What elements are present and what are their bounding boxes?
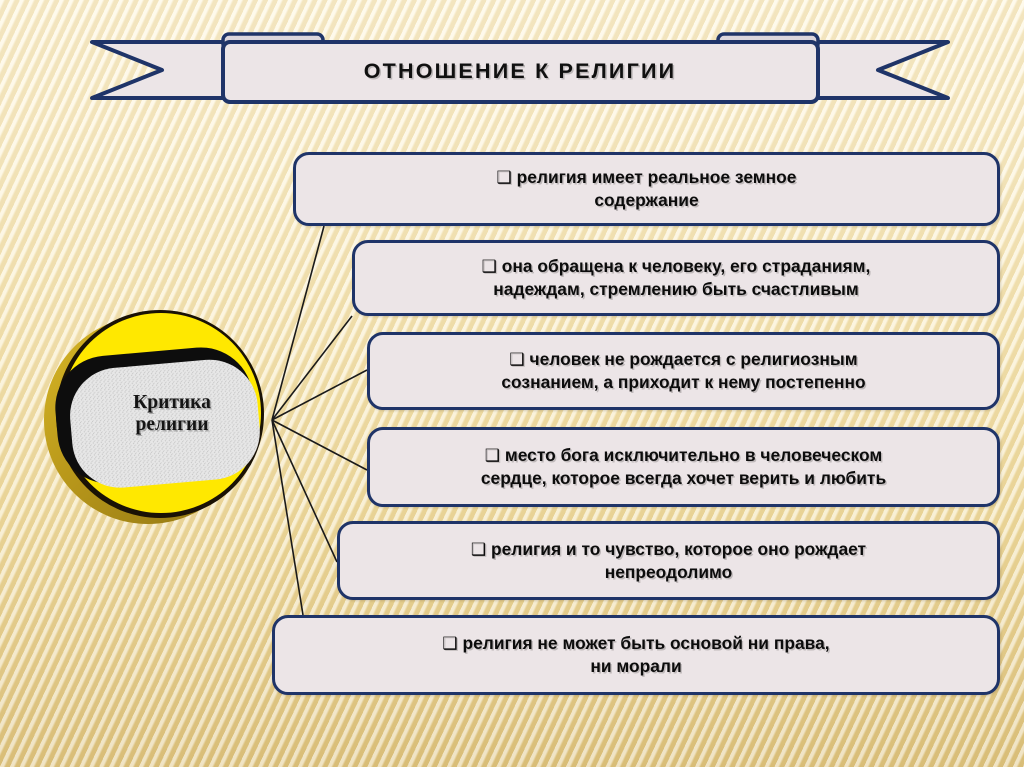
statement-line-4a: место бога исключительно в человеческом bbox=[505, 445, 882, 465]
statement-text-4: ❑ место бога исключительно в человеческо… bbox=[481, 444, 886, 489]
statement-line-2b: надеждам, стремлению быть счастливым bbox=[493, 279, 858, 299]
bullet-icon-1: ❑ bbox=[497, 168, 512, 187]
title-banner: ОТНОШЕНИЕ К РЕЛИГИИ bbox=[90, 30, 950, 110]
statement-box-2[interactable]: ❑ она обращена к человеку, его страдания… bbox=[352, 240, 1000, 316]
statement-line-2a: она обращена к человеку, его страданиям, bbox=[502, 256, 871, 276]
bullet-icon-6: ❑ bbox=[442, 634, 457, 653]
bullet-icon-5: ❑ bbox=[471, 540, 486, 559]
bullet-icon-2: ❑ bbox=[482, 257, 497, 276]
statement-text-3: ❑ человек не рождается с религиозным соз… bbox=[501, 348, 865, 393]
statement-box-3[interactable]: ❑ человек не рождается с религиозным соз… bbox=[367, 332, 1000, 410]
statement-line-3a: человек не рождается с религиозным bbox=[530, 349, 858, 369]
emblem-label-line-2: религии bbox=[104, 414, 240, 436]
emblem-label: Критика религии bbox=[104, 392, 240, 436]
banner-left-tail bbox=[92, 42, 240, 98]
bullet-icon-3: ❑ bbox=[509, 350, 524, 369]
statement-line-1b: содержание bbox=[594, 190, 698, 210]
statement-line-6b: ни морали bbox=[590, 656, 681, 676]
statement-line-5a: религия и то чувство, которое оно рождае… bbox=[491, 539, 866, 559]
central-emblem: Критика религии bbox=[42, 296, 274, 536]
connector-line-1 bbox=[272, 226, 324, 420]
emblem-label-line-1: Критика bbox=[104, 392, 240, 414]
statement-line-6a: религия не может быть основой ни права, bbox=[462, 633, 829, 653]
connector-line-2 bbox=[272, 316, 352, 420]
statement-box-1[interactable]: ❑ религия имеет реальное земное содержан… bbox=[293, 152, 1000, 226]
slide-canvas: ОТНОШЕНИЕ К РЕЛИГИИ bbox=[0, 0, 1024, 767]
banner-right-tail bbox=[800, 42, 948, 98]
bullet-icon-4: ❑ bbox=[485, 446, 500, 465]
statement-line-1a: религия имеет реальное земное bbox=[517, 167, 797, 187]
statement-box-4[interactable]: ❑ место бога исключительно в человеческо… bbox=[367, 427, 1000, 507]
statement-text-2: ❑ она обращена к человеку, его страдания… bbox=[482, 255, 871, 300]
statement-text-5: ❑ религия и то чувство, которое оно рожд… bbox=[471, 538, 866, 583]
statement-line-3b: сознанием, а приходит к нему постепенно bbox=[501, 372, 865, 392]
connector-line-6 bbox=[272, 420, 303, 615]
page-title: ОТНОШЕНИЕ К РЕЛИГИИ bbox=[225, 46, 815, 96]
connector-line-4 bbox=[272, 420, 367, 470]
statement-line-4b: сердце, которое всегда хочет верить и лю… bbox=[481, 468, 886, 488]
statement-box-6[interactable]: ❑ религия не может быть основой ни права… bbox=[272, 615, 1000, 695]
statement-text-6: ❑ религия не может быть основой ни права… bbox=[442, 632, 829, 677]
statement-box-5[interactable]: ❑ религия и то чувство, которое оно рожд… bbox=[337, 521, 1000, 600]
statement-text-1: ❑ религия имеет реальное земное содержан… bbox=[497, 166, 797, 211]
statement-line-5b: непреодолимо bbox=[605, 562, 733, 582]
connector-line-3 bbox=[272, 370, 367, 420]
connector-line-5 bbox=[272, 420, 337, 562]
